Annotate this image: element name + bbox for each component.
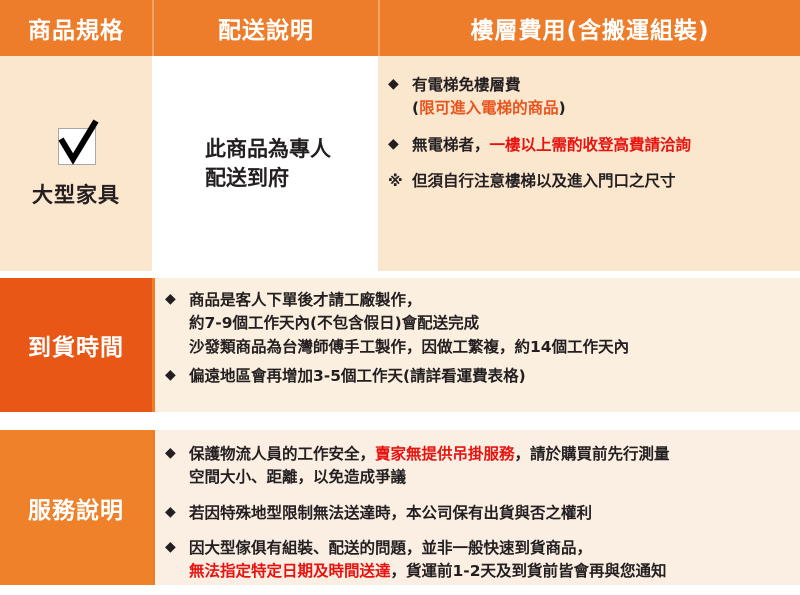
header-cell-floor-fee: 樓層費用(含搬運組裝) — [378, 0, 800, 56]
row1-spec-cell: 大型家具 — [0, 56, 152, 271]
diamond-bullet-icon: ◆ — [388, 134, 412, 156]
row3-item-3-line-1: 因大型傢俱有組裝、配送的問題，並非一般快速到貨商品， — [189, 537, 790, 560]
table-row: 大型家具 此商品為專人 配送到府 ◆ 有電梯免樓層費 (限可進入電梯的商品) ◆… — [0, 56, 800, 271]
row1-fee-item-1-line-1: 有電梯免樓層費 — [412, 74, 786, 97]
row1-fee-item-2-prefix: 無電梯者， — [412, 136, 490, 154]
list-item: ※ 但須自行注意樓梯以及進入門口之尺寸 — [388, 170, 786, 193]
list-item: ◆ 商品是客人下單後才請工廠製作， 約7-9個工作天內(不包含假日)會配送完成 … — [165, 289, 790, 359]
row1-shipping-cell: 此商品為專人 配送到府 — [152, 56, 378, 271]
row1-fee-item-1-text: 有電梯免樓層費 (限可進入電梯的商品) — [412, 74, 786, 121]
row2-label-cell: 到貨時間 — [0, 278, 152, 412]
row2-item-2-text: 偏遠地區會再增加3-5個工作天(請詳看運費表格) — [189, 365, 790, 388]
row1-fee-cell: ◆ 有電梯免樓層費 (限可進入電梯的商品) ◆ 無電梯者，一樓以上需酌收登高費請… — [378, 56, 800, 271]
row1-fee-item-1-emphasis: 限可進入電梯的商品 — [419, 99, 559, 117]
row3-label-cell: 服務說明 — [0, 430, 152, 585]
list-item: ◆ 因大型傢俱有組裝、配送的問題，並非一般快速到貨商品， 無法指定特定日期及時間… — [165, 537, 790, 584]
row1-fee-item-2-text: 無電梯者，一樓以上需酌收登高費請洽詢 — [412, 134, 786, 157]
diamond-bullet-icon: ◆ — [165, 537, 189, 559]
diamond-bullet-icon: ◆ — [165, 443, 189, 465]
list-item: ◆ 若因特殊地型限制無法送達時，本公司保有出貨與否之權利 — [165, 502, 790, 525]
row3-item-3-text: 因大型傢俱有組裝、配送的問題，並非一般快速到貨商品， 無法指定特定日期及時間送達… — [189, 537, 790, 584]
row1-shipping-line-2: 配送到府 — [205, 164, 331, 192]
table-header-row: 商品規格 配送說明 樓層費用(含搬運組裝) — [0, 0, 800, 56]
row3-item-3-suffix: ，貨運前1-2天及到貨前皆會再與您通知 — [391, 562, 667, 580]
row1-shipping-text: 此商品為專人 配送到府 — [199, 135, 331, 192]
row1-fee-item-2-emphasis: 一樓以上需酌收登高費請洽詢 — [490, 136, 692, 154]
checkbox-checked-icon — [52, 119, 100, 165]
list-item: ◆ 保護物流人員的工作安全，賣家無提供吊掛服務，請於購買前先行測量 空間大小、距… — [165, 443, 790, 490]
list-item: ◆ 有電梯免樓層費 (限可進入電梯的商品) — [388, 74, 786, 121]
row3-item-1-emphasis: 賣家無提供吊掛服務 — [375, 445, 515, 463]
row3-item-1-line-2: 空間大小、距離，以免造成爭議 — [189, 466, 790, 489]
row1-fee-item-1-line-2: (限可進入電梯的商品) — [412, 97, 786, 120]
row3-item-1-line-1: 保護物流人員的工作安全，賣家無提供吊掛服務，請於購買前先行測量 — [189, 443, 790, 466]
table-row: 服務說明 ◆ 保護物流人員的工作安全，賣家無提供吊掛服務，請於購買前先行測量 空… — [0, 430, 800, 585]
list-item: ◆ 偏遠地區會再增加3-5個工作天(請詳看運費表格) — [165, 365, 790, 388]
row2-item-1-line-2: 約7-9個工作天內(不包含假日)會配送完成 — [189, 312, 790, 335]
row1-spec-label: 大型家具 — [32, 179, 120, 209]
row3-item-1-suffix: ，請於購買前先行測量 — [515, 445, 670, 463]
row1-shipping-line-1: 此商品為專人 — [205, 135, 331, 163]
row3-item-3-line-2: 無法指定特定日期及時間送達，貨運前1-2天及到貨前皆會再與您通知 — [189, 560, 790, 583]
row1-fee-item-3-text: 但須自行注意樓梯以及進入門口之尺寸 — [412, 170, 786, 193]
header-cell-shipping-note: 配送說明 — [152, 0, 378, 56]
diamond-bullet-icon: ◆ — [165, 502, 189, 524]
list-item: ◆ 無電梯者，一樓以上需酌收登高費請洽詢 — [388, 134, 786, 157]
reference-mark-icon: ※ — [388, 170, 412, 193]
row2-content-cell: ◆ 商品是客人下單後才請工廠製作， 約7-9個工作天內(不包含假日)會配送完成 … — [152, 278, 800, 412]
diamond-bullet-icon: ◆ — [165, 289, 189, 311]
row3-item-3-emphasis: 無法指定特定日期及時間送達 — [189, 562, 391, 580]
header-cell-product-spec: 商品規格 — [0, 0, 152, 56]
row3-item-2-text: 若因特殊地型限制無法送達時，本公司保有出貨與否之權利 — [189, 502, 790, 525]
row3-content-cell: ◆ 保護物流人員的工作安全，賣家無提供吊掛服務，請於購買前先行測量 空間大小、距… — [152, 430, 800, 585]
row2-item-1-text: 商品是客人下單後才請工廠製作， 約7-9個工作天內(不包含假日)會配送完成 沙發… — [189, 289, 790, 359]
row2-item-1-line-3: 沙發類商品為台灣師傅手工製作，因做工繁複，約14個工作天內 — [189, 336, 790, 359]
row2-item-1-line-1: 商品是客人下單後才請工廠製作， — [189, 289, 790, 312]
table-row: 到貨時間 ◆ 商品是客人下單後才請工廠製作， 約7-9個工作天內(不包含假日)會… — [0, 278, 800, 412]
paren-close: ) — [559, 99, 566, 117]
diamond-bullet-icon: ◆ — [388, 74, 412, 96]
row3-item-1-text: 保護物流人員的工作安全，賣家無提供吊掛服務，請於購買前先行測量 空間大小、距離，… — [189, 443, 790, 490]
diamond-bullet-icon: ◆ — [165, 365, 189, 387]
shipping-info-table: 商品規格 配送說明 樓層費用(含搬運組裝) 大型家具 此商品為專人 配送到府 ◆ — [0, 0, 800, 595]
row3-item-1-prefix: 保護物流人員的工作安全， — [189, 445, 375, 463]
